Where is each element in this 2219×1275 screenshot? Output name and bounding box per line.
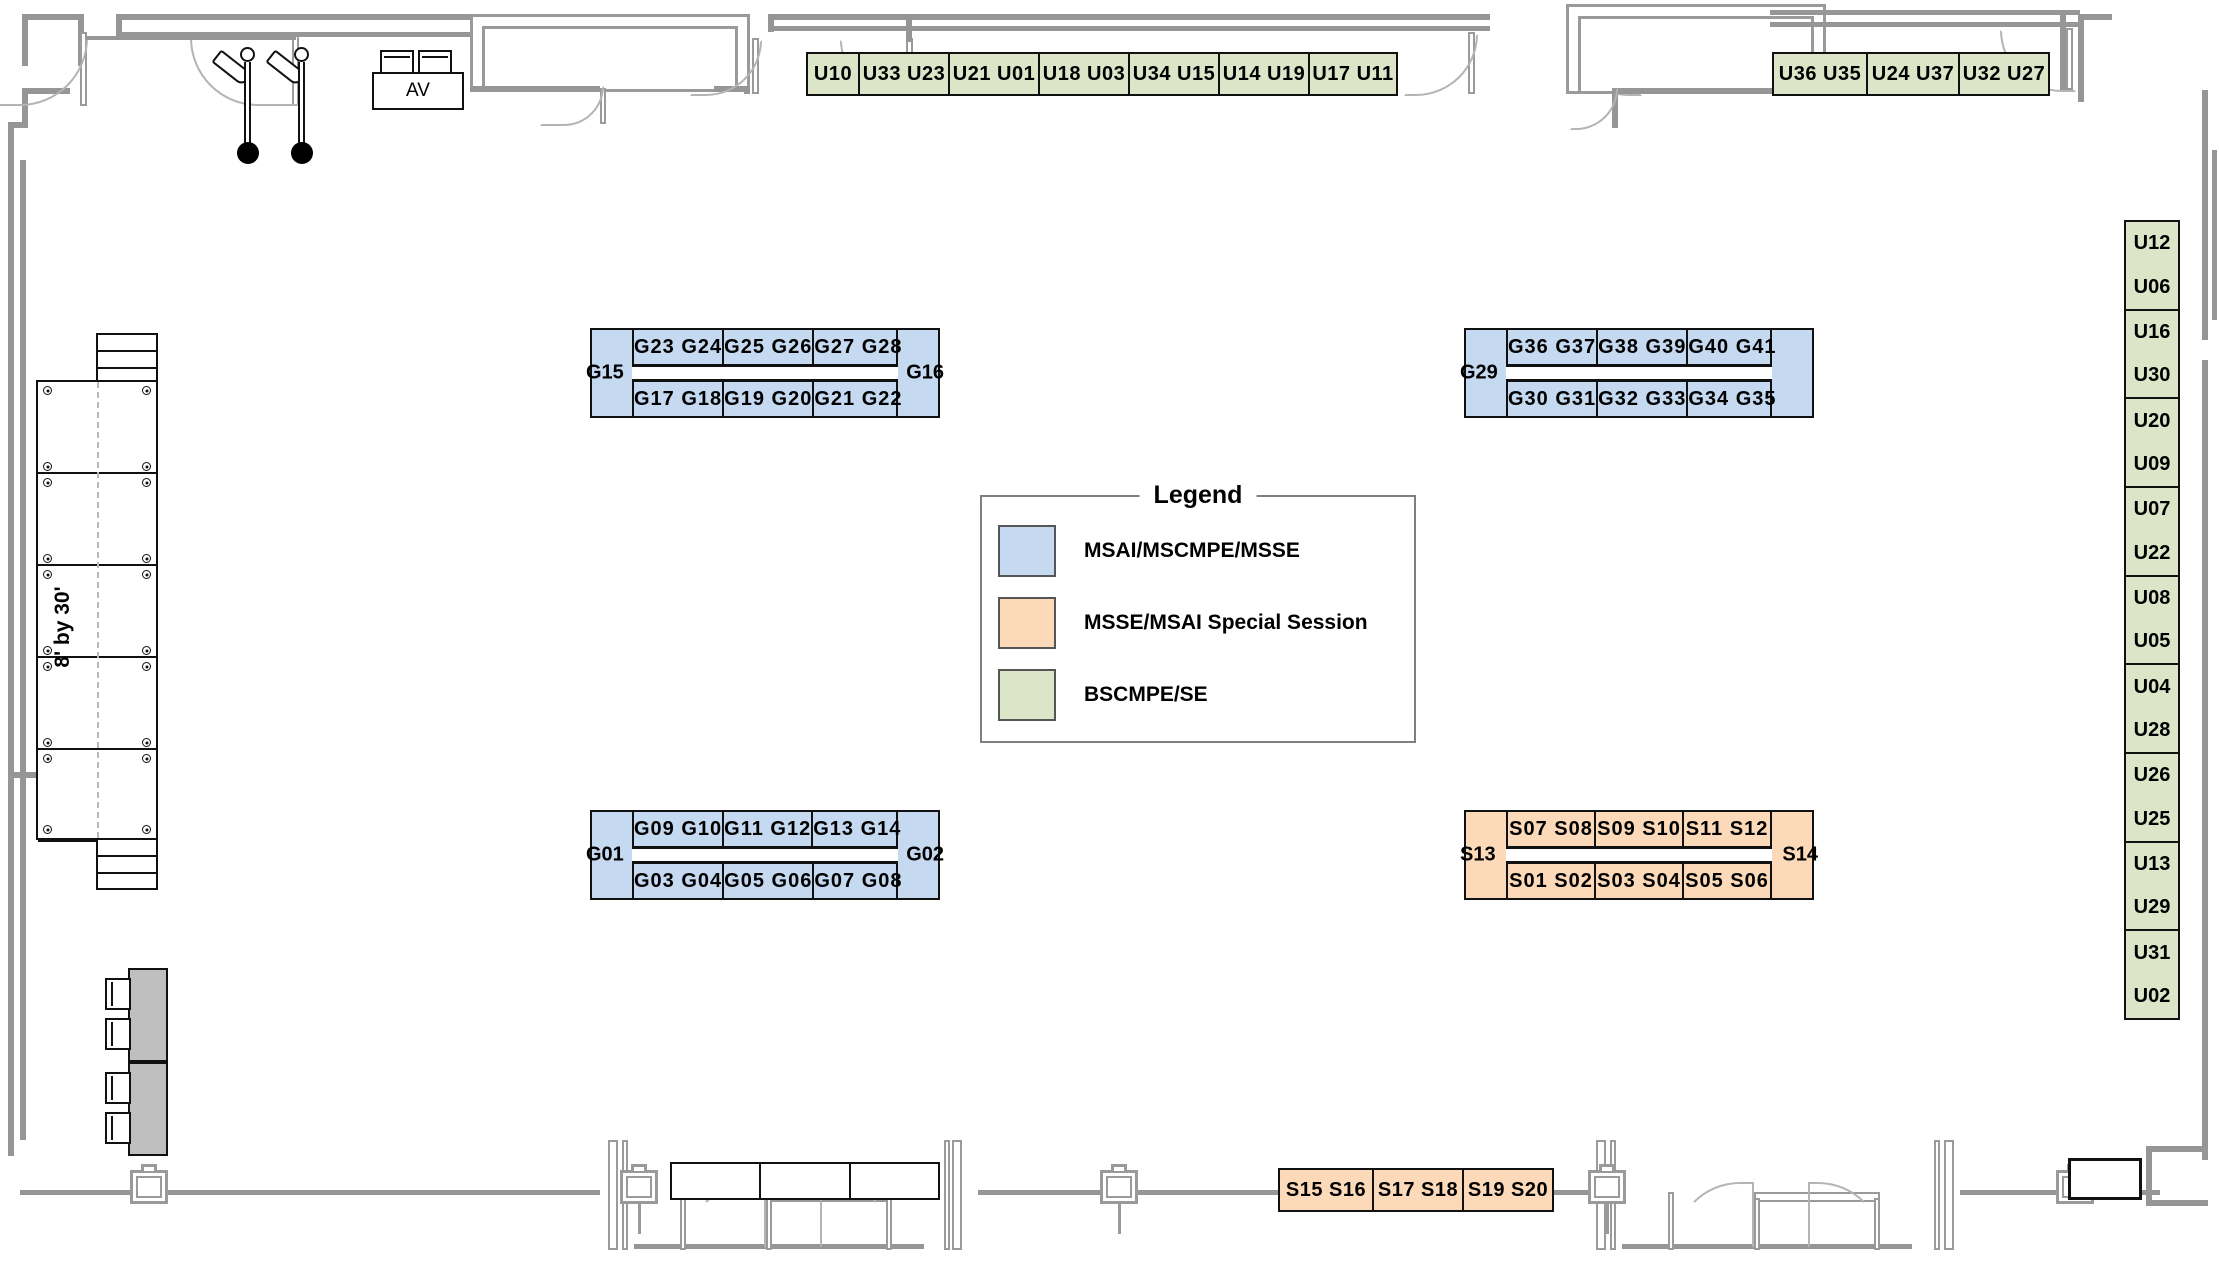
fixture-stem: [1606, 1204, 1609, 1234]
seat-cell[interactable]: U02: [2126, 975, 2178, 1018]
seat-cell[interactable]: U30: [2126, 354, 2178, 397]
door-swing-arc: [540, 86, 604, 126]
wall-segment: [2078, 14, 2084, 102]
legend-swatch-peach: [998, 597, 1056, 649]
seat-cell[interactable]: G03 G04: [634, 864, 722, 898]
seat-pair[interactable]: U13U29: [2126, 841, 2178, 930]
wall-top: [1770, 10, 2080, 15]
av-desk[interactable]: AV: [372, 72, 464, 110]
seat-cell[interactable]: U07: [2126, 488, 2178, 531]
wall-top: [770, 14, 1490, 20]
legend-title: Legend: [1140, 481, 1257, 510]
door-swing-arc: [1674, 1182, 1754, 1248]
island-seat-row-bottom[interactable]: G03 G04G05 G06G07 G08: [632, 862, 898, 900]
door-leaf: [944, 1140, 950, 1250]
top-right-green-seating-row[interactable]: U36 U35U24 U37U32 U27: [1772, 52, 2050, 96]
stage-centerline: [97, 382, 99, 838]
seat-cell[interactable]: U28: [2126, 709, 2178, 752]
seat-cell[interactable]: S19 S20: [1462, 1170, 1552, 1210]
island-seat-row-top[interactable]: S07 S08S09 S10S11 S12: [1506, 810, 1772, 848]
wall-panel-icon: [1100, 1170, 1138, 1204]
seat-cell[interactable]: U06: [2126, 265, 2178, 308]
seat-cell[interactable]: G05 G06: [722, 864, 812, 898]
seat-cell[interactable]: U08: [2126, 577, 2178, 620]
door-leaf: [766, 1198, 772, 1250]
door-leaf: [1754, 1198, 1760, 1250]
seat-cell[interactable]: U25: [2126, 797, 2178, 840]
right-green-seating-column[interactable]: U12U06U16U30U20U09U07U22U08U05U04U28U26U…: [2124, 220, 2180, 1020]
gray-table: [128, 1062, 168, 1156]
seat-cell[interactable]: G09 G10: [634, 812, 722, 846]
wall-top-inner: [1770, 22, 2080, 27]
seat-cell[interactable]: U36 U35: [1774, 54, 1866, 94]
table-segment: [672, 1164, 759, 1198]
wall-left-inner: [20, 160, 26, 1140]
seat-cell[interactable]: U10: [808, 54, 858, 94]
legend-label: MSAI/MSCMPE/MSSE: [1084, 539, 1300, 563]
seat-cell[interactable]: S03 S04: [1594, 864, 1682, 898]
door-leaf: [1668, 1192, 1674, 1250]
seat-cell[interactable]: G21 G22: [812, 382, 902, 416]
island-aisle: [632, 366, 898, 380]
floor-plan-canvas: U10U33 U23U21 U01U18 U03U34 U15U14 U19U1…: [0, 0, 2219, 1275]
legend-swatch-blue: [998, 525, 1056, 577]
seat-cell[interactable]: U09: [2126, 443, 2178, 486]
seat-cell[interactable]: U16: [2126, 311, 2178, 354]
seat-cell[interactable]: U22: [2126, 531, 2178, 574]
wall-right-outer: [2212, 150, 2217, 320]
island-aisle: [1506, 848, 1772, 862]
seat-cell[interactable]: U04: [2126, 665, 2178, 708]
island-seat-row-top[interactable]: G09 G10G11 G12G13 G14: [632, 810, 898, 848]
seat-cell[interactable]: G36 G37: [1508, 330, 1596, 364]
legend-row: BSCMPE/SE: [998, 659, 1414, 731]
seat-cell[interactable]: U31: [2126, 931, 2178, 974]
fixture-stem: [638, 1204, 641, 1234]
island-aisle: [632, 848, 898, 862]
stage-steps-top: [96, 333, 158, 385]
seat-cell[interactable]: U05: [2126, 620, 2178, 663]
wall-right: [2202, 360, 2208, 1160]
legend-label: BSCMPE/SE: [1084, 683, 1208, 707]
wall-top-inner: [770, 26, 1490, 31]
chair: [105, 1018, 131, 1050]
wall-panel-icon: [1588, 1170, 1626, 1204]
gray-table: [128, 968, 168, 1062]
seat-cell[interactable]: U21 U01: [948, 54, 1038, 94]
seat-cell[interactable]: U20: [2126, 399, 2178, 442]
wall-panel-icon: [130, 1170, 168, 1204]
seat-cell[interactable]: G11 G12: [722, 812, 811, 846]
seat-cell[interactable]: G25 G26: [722, 330, 812, 364]
island-s-lower-right[interactable]: S13S14S07 S08S09 S10S11 S12S01 S02S03 S0…: [1464, 810, 1814, 900]
bottom-peach-seating-row[interactable]: S15 S16S17 S18S19 S20: [1278, 1168, 1554, 1212]
chair: [105, 1072, 131, 1104]
seat-cell[interactable]: G07 G08: [812, 864, 902, 898]
seat-cell[interactable]: U17 U11: [1308, 54, 1396, 94]
seat-cell[interactable]: G13 G14: [811, 812, 901, 846]
wall-segment: [744, 86, 750, 94]
wall-segment: [2078, 14, 2112, 20]
seat-cell[interactable]: G19 G20: [722, 382, 812, 416]
wall-top-inner: [122, 32, 474, 37]
table-segment: [759, 1164, 848, 1198]
wall-segment: [2146, 1146, 2208, 1152]
seat-pair[interactable]: U16U30: [2126, 309, 2178, 398]
seat-cell[interactable]: G32 G33: [1596, 382, 1686, 416]
door-leaf: [608, 1140, 618, 1250]
seat-cell[interactable]: U32 U27: [1958, 54, 2048, 94]
legend: Legend MSAI/MSCMPE/MSSEMSSE/MSAI Special…: [980, 495, 1416, 743]
seat-cell[interactable]: S15 S16: [1280, 1170, 1372, 1210]
island-seat-row-bottom[interactable]: S01 S02S03 S04S05 S06: [1506, 862, 1772, 900]
door-leaf: [1944, 1140, 1954, 1250]
top-green-seating-row[interactable]: U10U33 U23U21 U01U18 U03U34 U15U14 U19U1…: [806, 52, 1398, 96]
seat-cell[interactable]: U24 U37: [1866, 54, 1958, 94]
chair: [105, 978, 131, 1010]
seat-pair[interactable]: U31U02: [2126, 929, 2178, 1018]
wall-segment: [2146, 1200, 2208, 1206]
wall-segment: [22, 14, 84, 20]
seat-pair[interactable]: U12U06: [2126, 222, 2178, 309]
seat-cell[interactable]: G27 G28: [812, 330, 902, 364]
wall-left-upper: [8, 122, 14, 772]
seat-cell[interactable]: U34 U15: [1128, 54, 1218, 94]
seat-cell[interactable]: G34 G35: [1686, 382, 1776, 416]
seat-cell[interactable]: U18 U03: [1038, 54, 1128, 94]
door-swing-arc: [1404, 34, 1478, 96]
door-swing-arc: [1570, 88, 1618, 130]
door-leaf: [952, 1140, 962, 1250]
legend-rows: MSAI/MSCMPE/MSSEMSSE/MSAI Special Sessio…: [982, 497, 1414, 731]
seat-cell[interactable]: S01 S02: [1508, 864, 1594, 898]
wall-right-upper: [2202, 90, 2208, 340]
island-seat-row-top[interactable]: G36 G37G38 G39G40 G41: [1506, 328, 1772, 366]
island-g-lower-left[interactable]: G01G02G09 G10G11 G12G13 G14G03 G04G05 G0…: [590, 810, 940, 900]
seat-cell[interactable]: S11 S12: [1682, 812, 1770, 846]
seat-cell[interactable]: S09 S10: [1594, 812, 1682, 846]
seat-pair[interactable]: U07U22: [2126, 486, 2178, 575]
seat-cell[interactable]: U12: [2126, 222, 2178, 265]
wall-panel-icon: [620, 1170, 658, 1204]
island-seat-row-bottom[interactable]: G17 G18G19 G20G21 G22: [632, 380, 898, 418]
wall-bottom: [20, 1190, 600, 1195]
legend-label: MSSE/MSAI Special Session: [1084, 611, 1368, 635]
wall-segment: [768, 14, 774, 32]
seat-cell[interactable]: G38 G39: [1596, 330, 1686, 364]
seat-cell[interactable]: S17 S18: [1372, 1170, 1462, 1210]
island-seat-row-top[interactable]: G23 G24G25 G26G27 G28: [632, 328, 898, 366]
seat-cell[interactable]: U29: [2126, 886, 2178, 929]
seat-cell[interactable]: G23 G24: [634, 330, 722, 364]
island-g-upper-left[interactable]: G15G16G23 G24G25 G26G27 G28G17 G18G19 G2…: [590, 328, 940, 418]
seat-cell[interactable]: U13: [2126, 843, 2178, 886]
island-g-upper-right[interactable]: G29G36 G37G38 G39G40 G41G30 G31G32 G33G3…: [1464, 328, 1814, 418]
legend-swatch-green: [998, 669, 1056, 721]
island-seat-row-bottom[interactable]: G30 G31G32 G33G34 G35: [1506, 380, 1772, 418]
stage-size-label: 8' by 30': [51, 562, 75, 692]
seat-pair[interactable]: U26U25: [2126, 752, 2178, 841]
seat-cell[interactable]: U26: [2126, 754, 2178, 797]
stage-steps-bottom: [96, 838, 158, 890]
legend-row: MSAI/MSCMPE/MSSE: [998, 515, 1414, 587]
wall-top: [122, 14, 472, 20]
seat-pair[interactable]: U08U05: [2126, 575, 2178, 664]
chair: [105, 1112, 131, 1144]
screen-box: [2068, 1158, 2142, 1200]
seat-pair[interactable]: U04U28: [2126, 663, 2178, 752]
island-aisle: [1506, 366, 1772, 380]
wall-segment: [2146, 1146, 2152, 1206]
seat-cell[interactable]: U14 U19: [1218, 54, 1308, 94]
seat-cell[interactable]: S05 S06: [1682, 864, 1770, 898]
wall-left-lower: [8, 766, 14, 1156]
registration-tables: [670, 1162, 940, 1200]
seat-cell[interactable]: S07 S08: [1508, 812, 1594, 846]
fixture-stem: [1118, 1204, 1121, 1234]
table-segment: [849, 1164, 938, 1198]
door-leaf: [680, 1192, 686, 1250]
seat-cell[interactable]: G40 G41: [1686, 330, 1776, 364]
door-swing-arc: [0, 38, 88, 106]
seat-cell[interactable]: G17 G18: [634, 382, 722, 416]
door-leaf: [1934, 1140, 1940, 1250]
seat-pair[interactable]: U20U09: [2126, 397, 2178, 486]
seat-cell[interactable]: G30 G31: [1508, 382, 1596, 416]
seat-cell[interactable]: U33 U23: [858, 54, 948, 94]
legend-row: MSSE/MSAI Special Session: [998, 587, 1414, 659]
